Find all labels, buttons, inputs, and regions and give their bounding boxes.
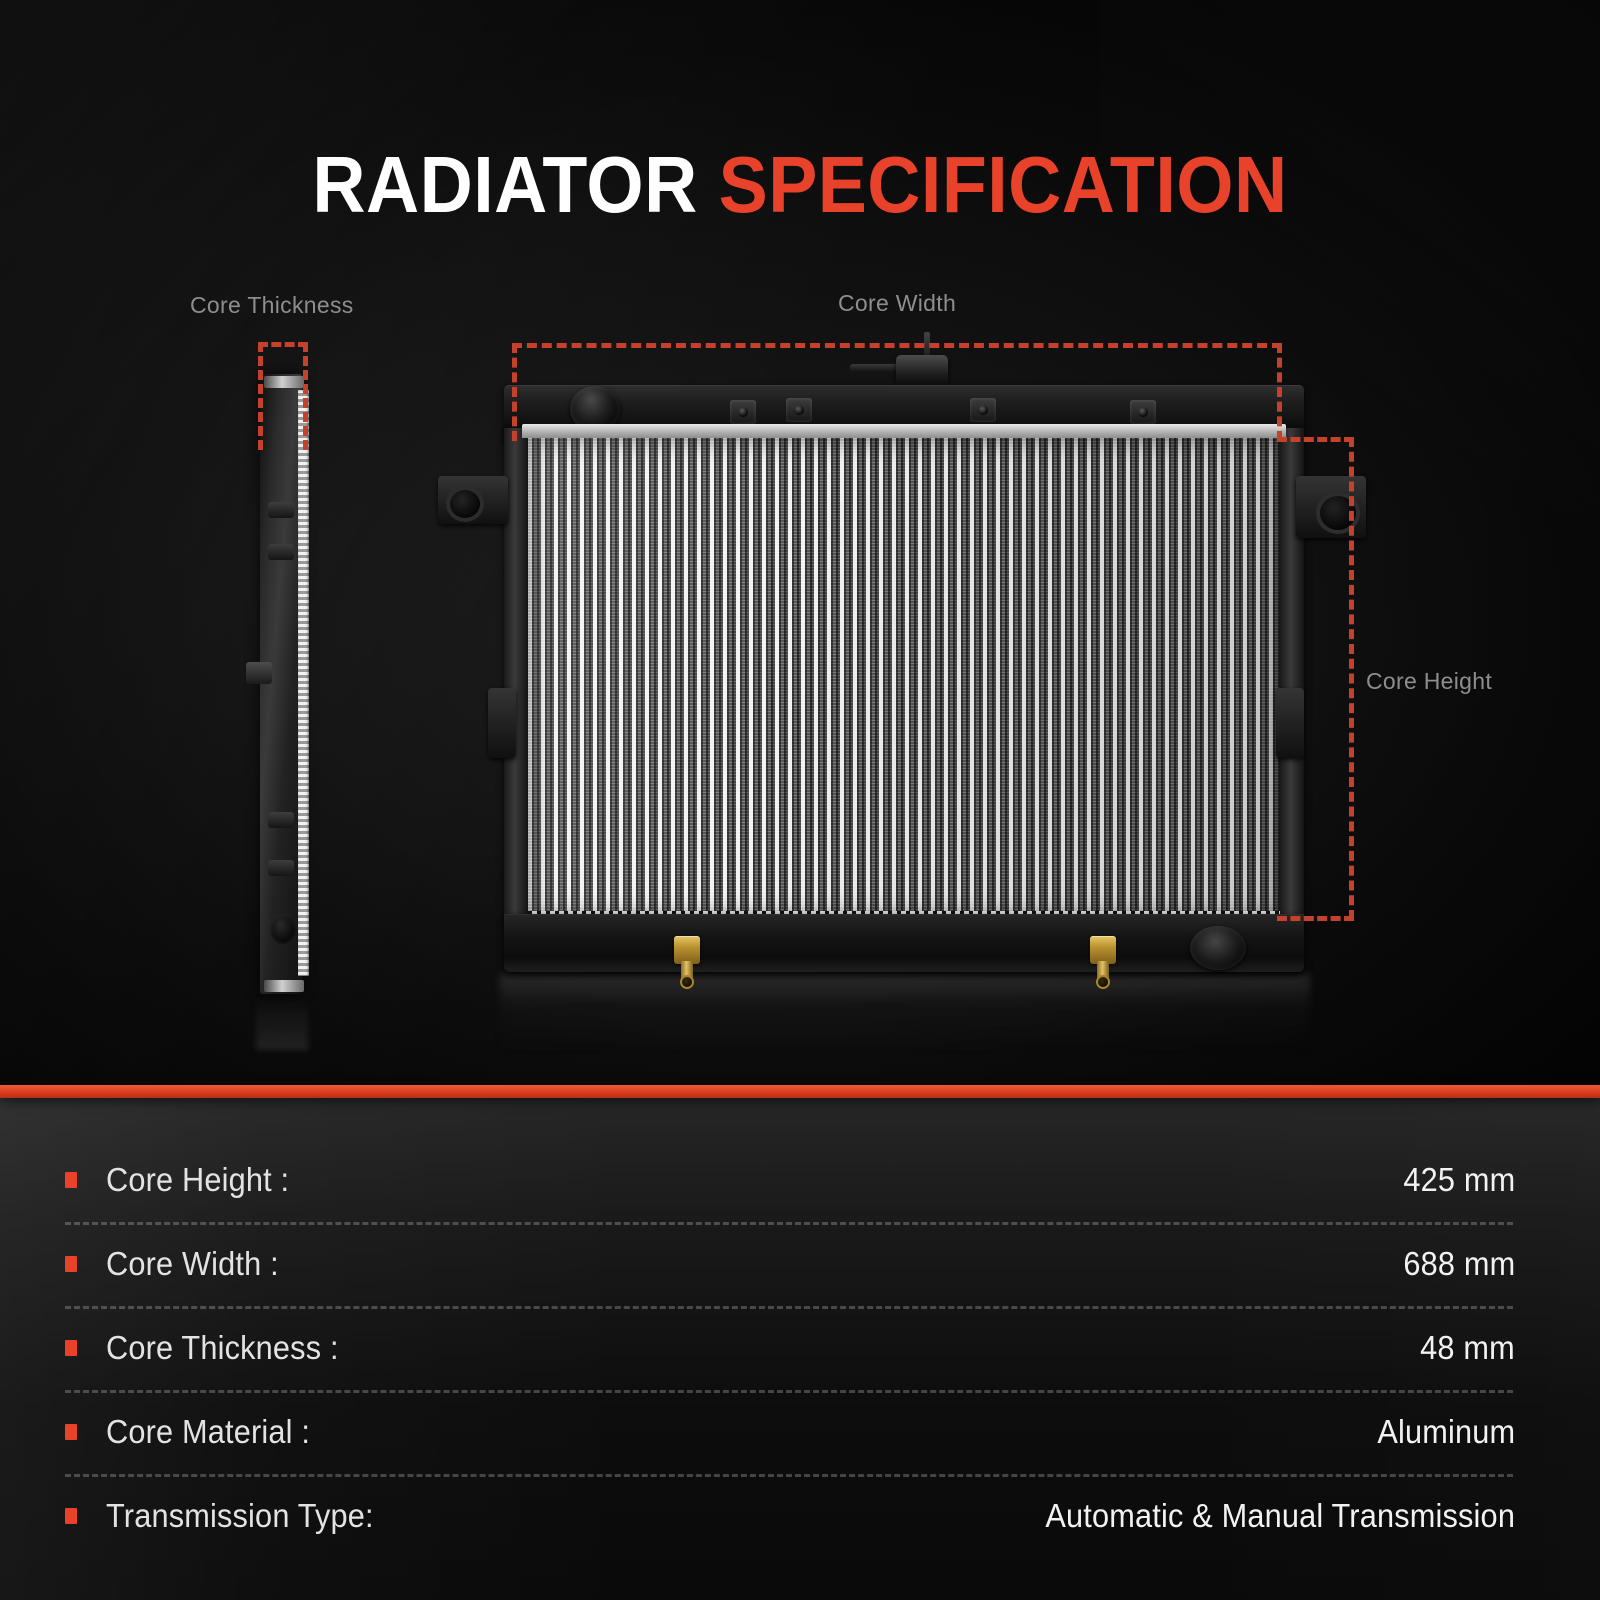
side-view-drain-nipple [246,662,272,684]
coolant-outlet-port [1190,926,1246,970]
bullet-icon [65,1424,77,1440]
height-bracket-bottom [1277,916,1354,921]
bullet-icon [65,1172,77,1188]
width-bracket-left [512,343,517,441]
transmission-cooler-fitting-1 [674,936,700,964]
spec-value: 48 mm [1420,1329,1515,1367]
spec-value: 688 mm [1403,1245,1515,1283]
tank-boss-1 [730,400,756,424]
height-bracket-top [1277,437,1354,442]
spec-label: Core Material : [106,1413,310,1451]
core-lighting-shade [528,438,1280,918]
side-view-outlet-port [270,914,296,944]
title-word-radiator: RADIATOR [312,140,697,229]
spec-value: Aluminum [1377,1413,1515,1451]
bullet-icon [65,1340,77,1356]
fitting-stem-1 [681,961,693,987]
tank-boss-4 [1130,400,1156,424]
spec-row-core-width: Core Width : 688 mm [65,1222,1515,1306]
transmission-cooler-fitting-2 [1090,936,1116,964]
callout-label-core-thickness: Core Thickness [190,292,354,319]
spec-row-core-height: Core Height : 425 mm [65,1138,1515,1222]
side-view-bracket-lower2 [268,860,294,876]
spec-label: Core Width : [106,1245,279,1283]
spec-row-core-thickness: Core Thickness : 48 mm [65,1306,1515,1390]
aluminum-core-fins [528,438,1280,918]
spec-value: Automatic & Manual Transmission [1045,1497,1515,1535]
product-hero-section: RADIATOR SPECIFICATION Core Thickness Co… [0,0,1600,1090]
bullet-icon [65,1256,77,1272]
callout-label-core-height: Core Height [1366,668,1492,695]
radiator-front-view-image [430,358,1360,998]
tank-boss-2 [786,398,812,422]
radiator-filler-cap [896,355,948,389]
spec-label: Core Height : [106,1161,289,1199]
thickness-bracket-right [303,342,308,450]
side-view-bracket-lower [268,812,294,828]
lower-tank [504,914,1304,972]
right-mounting-bracket [1296,476,1366,538]
side-view-core-edge [298,390,309,976]
side-view-bracket-upper2 [268,544,294,560]
side-view-reflection [256,996,308,1050]
height-bracket-right [1349,437,1354,920]
left-lower-bracket [488,688,516,758]
thickness-bracket-top [258,342,308,347]
callout-label-core-width: Core Width [838,290,956,317]
spec-value: 425 mm [1403,1161,1515,1199]
tank-boss-3 [970,398,996,422]
width-bracket-top [512,343,1282,348]
right-lower-bracket [1276,688,1304,758]
width-bracket-right [1277,343,1282,441]
side-view-bottom-plate [264,980,304,992]
left-mounting-bracket [438,476,508,524]
spec-label: Core Thickness : [106,1329,339,1367]
side-view-tank [260,374,302,994]
radiator-side-view-image [246,374,324,994]
core-top-header-plate [522,424,1286,438]
thickness-bracket-left [258,342,263,450]
front-view-reflection [500,974,1310,1054]
specification-table: Core Height : 425 mm Core Width : 688 mm… [0,1098,1600,1600]
side-view-top-plate [264,376,304,388]
spec-row-transmission-type: Transmission Type: Automatic & Manual Tr… [65,1474,1515,1558]
bullet-icon [65,1508,77,1524]
page-title: RADIATOR SPECIFICATION [64,142,1536,228]
spec-row-core-material: Core Material : Aluminum [65,1390,1515,1474]
side-view-bracket-upper [268,502,294,518]
fitting-stem-2 [1097,961,1109,987]
title-word-specification: SPECIFICATION [719,140,1288,229]
section-divider-bar [0,1085,1600,1098]
spec-label: Transmission Type: [106,1497,374,1535]
